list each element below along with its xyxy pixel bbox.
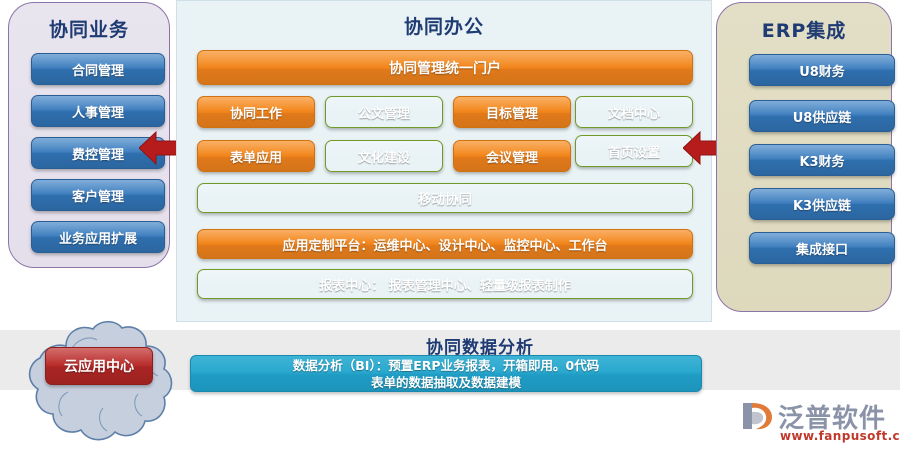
center-cell-form-application[interactable]: 表单应用 [197,140,315,172]
brand-logo: 泛普软件 www.fanpusoft.com [740,398,895,450]
cloud-shape-icon [14,320,184,450]
center-cell-meeting-management[interactable]: 会议管理 [453,140,571,172]
bi-data-analysis-bar[interactable]: 数据分析（BI）：预置ERP业务报表，开箱即用。0代码 表单的数据抽取及数据建模 [190,355,702,392]
center-mobile-collaboration-bar[interactable]: 移动协同 [197,183,693,213]
bi-line-1: 数据分析（BI）：预置ERP业务报表，开箱即用。0代码 [293,357,599,374]
logo-website-url: www.fanpusoft.com [780,429,900,443]
center-cell-culture-building[interactable]: 文化建设 [325,140,443,172]
right-panel-erp-integration: ERP集成 U8财务 U8供应链 K3财务 K3供应链 集成接口 [716,2,892,312]
right-item-k3-supply-chain[interactable]: K3供应链 [749,188,895,220]
left-panel-title: 协同业务 [9,15,169,42]
left-item-contract-management[interactable]: 合同管理 [31,53,165,85]
bi-line-2: 表单的数据抽取及数据建模 [371,374,521,391]
left-item-business-app-extension[interactable]: 业务应用扩展 [31,221,165,253]
center-panel-title: 协同办公 [177,12,711,39]
right-item-u8-supply-chain[interactable]: U8供应链 [749,100,895,132]
right-item-u8-finance[interactable]: U8财务 [749,54,895,86]
right-panel-title: ERP集成 [717,16,891,43]
diagram-canvas: 协同业务 合同管理 人事管理 费控管理 客户管理 业务应用扩展 协同办公 协同管… [0,0,900,455]
fanpu-mark-icon [740,400,774,432]
center-cell-goal-management[interactable]: 目标管理 [453,96,571,128]
center-cell-document-management[interactable]: 公文管理 [325,96,443,128]
center-app-customization-platform-bar[interactable]: 应用定制平台：运维中心、设计中心、监控中心、工作台 [197,229,693,259]
center-report-center-bar[interactable]: 报表中心： 报表管理中心、轻量级报表制作 [197,269,693,299]
left-item-hr-management[interactable]: 人事管理 [31,95,165,127]
cloud-app-center-button[interactable]: 云应用中心 [45,347,153,385]
center-cell-document-center[interactable]: 文档中心 [575,96,693,128]
center-unified-portal-bar[interactable]: 协同管理统一门户 [197,50,693,85]
center-cell-collaborative-work[interactable]: 协同工作 [197,96,315,128]
right-item-integration-api[interactable]: 集成接口 [749,232,895,264]
center-panel-collaborative-office: 协同办公 协同管理统一门户 协同工作 公文管理 目标管理 文档中心 表单应用 文… [176,0,712,322]
left-item-customer-management[interactable]: 客户管理 [31,179,165,211]
center-cell-homepage-settings[interactable]: 首页设置 [575,135,693,167]
right-item-k3-finance[interactable]: K3财务 [749,144,895,176]
